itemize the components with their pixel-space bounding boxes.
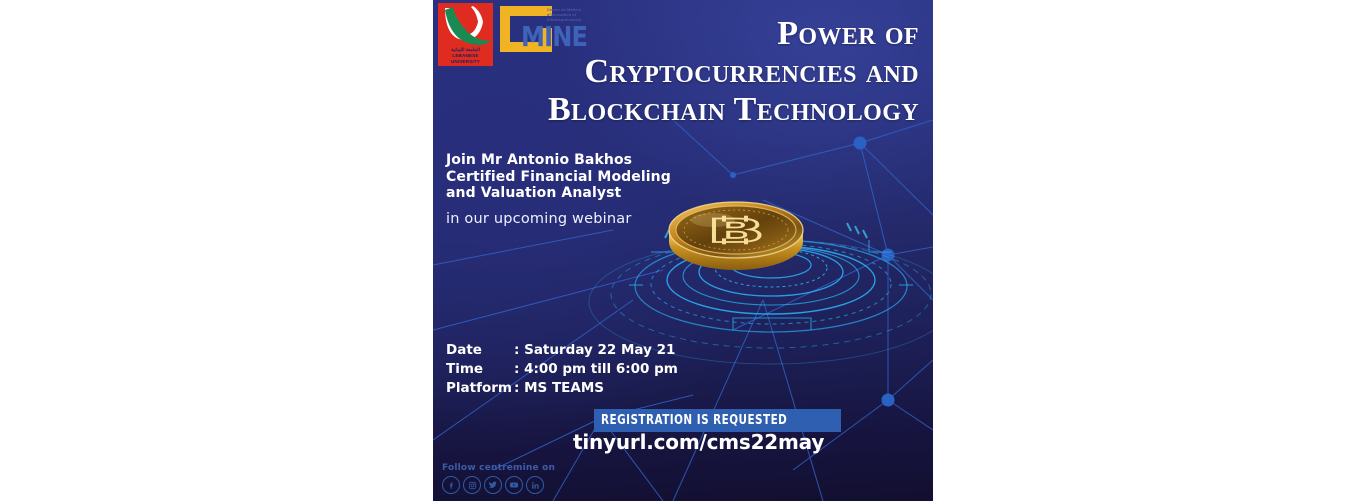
- webinar-subtitle: in our upcoming webinar: [446, 211, 746, 227]
- instagram-icon[interactable]: [463, 476, 481, 494]
- detail-label-platform: Platform: [446, 379, 514, 398]
- registration-url[interactable]: tinyurl.com/cms22may: [573, 430, 824, 454]
- registration-banner-text: REGISTRATION IS REQUESTED: [601, 414, 787, 428]
- follow-block: Follow centremine on: [442, 463, 555, 494]
- linkedin-icon[interactable]: [526, 476, 544, 494]
- detail-value-platform: : MS TEAMS: [514, 379, 604, 398]
- social-icon-row: [442, 476, 555, 494]
- speaker-credential-line-1: Certified Financial Modeling: [446, 169, 746, 186]
- event-details: Date : Saturday 22 May 21 Time : 4:00 pm…: [446, 341, 678, 398]
- speaker-credential-line-2: and Valuation Analyst: [446, 185, 746, 202]
- follow-label: Follow centremine on: [442, 463, 555, 473]
- poster-title: Power of Cryptocurrencies and Blockchain…: [479, 15, 919, 129]
- detail-label-time: Time: [446, 360, 514, 379]
- title-line-3: Blockchain Technology: [479, 91, 919, 129]
- speaker-name: Join Mr Antonio Bakhos: [446, 152, 746, 169]
- detail-row-platform: Platform : MS TEAMS: [446, 379, 678, 398]
- detail-value-date: : Saturday 22 May 21: [514, 341, 675, 360]
- detail-value-time: : 4:00 pm till 6:00 pm: [514, 360, 678, 379]
- twitter-icon[interactable]: [484, 476, 502, 494]
- detail-row-time: Time : 4:00 pm till 6:00 pm: [446, 360, 678, 379]
- speaker-block: Join Mr Antonio Bakhos Certified Financi…: [446, 152, 746, 227]
- detail-label-date: Date: [446, 341, 514, 360]
- screenshot-canvas: B الجامعة اللبنانية LEBANESE UNIVERSITY: [0, 0, 1367, 501]
- registration-banner: REGISTRATION IS REQUESTED: [594, 409, 841, 432]
- youtube-icon[interactable]: [505, 476, 523, 494]
- title-line-1: Power of: [479, 15, 919, 53]
- title-line-2: Cryptocurrencies and: [479, 53, 919, 91]
- webinar-poster: B الجامعة اللبنانية LEBANESE UNIVERSITY: [433, 0, 933, 501]
- detail-row-date: Date : Saturday 22 May 21: [446, 341, 678, 360]
- facebook-icon[interactable]: [442, 476, 460, 494]
